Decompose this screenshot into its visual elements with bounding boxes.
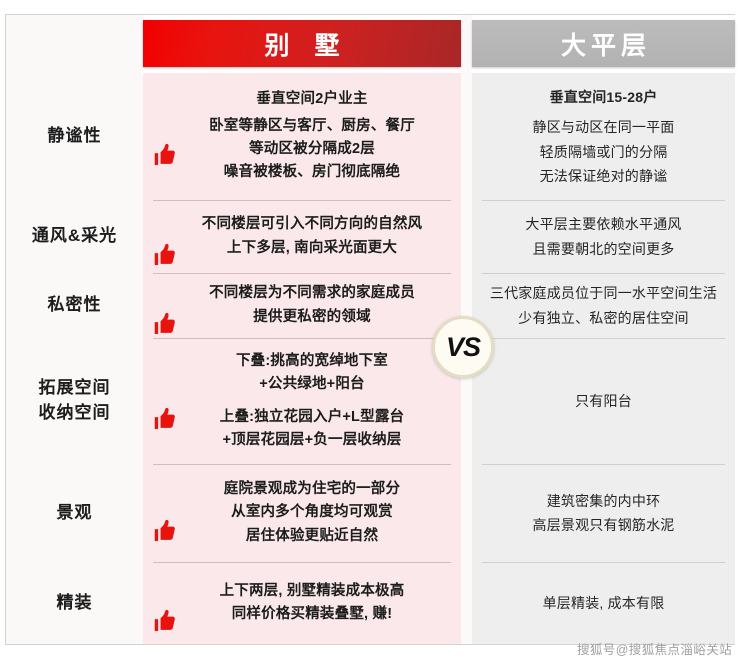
cell-body-text: 庭院景观成为住宅的一部分 从室内多个角度均可观赏 居住体验更贴近自然 bbox=[224, 478, 400, 548]
villa-cell-landscape: 庭院景观成为住宅的一部分 从室内多个角度均可观赏 居住体验更贴近自然 bbox=[143, 464, 461, 562]
villa-column: 别 墅 垂直空间2户业主 卧室等静区与客厅、厨房、餐厅 等动区被分隔成2层 噪音… bbox=[143, 15, 461, 644]
thumbs-up-icon bbox=[151, 589, 179, 617]
cell-body-text-secondary: 上叠:独立花园入户+L型露台 +顶层花园层+负一层收纳层 bbox=[220, 406, 404, 453]
flat-cell-privacy: 三代家庭成员位于同一水平空间生活 少有独立、私密的居住空间 bbox=[472, 273, 735, 338]
flat-column: 大平层 垂直空间15-28户 静区与动区在同一平面 轻质隔墙或门的分隔 无法保证… bbox=[472, 15, 735, 644]
table-row: 下叠:挑高的宽绰地下室 +公共绿地+阳台 上叠:独立花园入户+L型露台 +顶层花… bbox=[143, 338, 461, 464]
thumbs-up-icon bbox=[151, 292, 179, 320]
watermark: 搜狐号@搜狐焦点淄峪关站 bbox=[577, 639, 732, 658]
cell-lead-text: 垂直空间15-28户 bbox=[550, 85, 658, 110]
flat-cell-quiet: 垂直空间15-28户 静区与动区在同一平面 轻质隔墙或门的分隔 无法保证绝对的静… bbox=[472, 73, 735, 200]
villa-cell-finishing: 上下两层, 别墅精装成本极高 同样价格买精装叠墅, 赚! bbox=[143, 562, 461, 644]
flat-column-body: 垂直空间15-28户 静区与动区在同一平面 轻质隔墙或门的分隔 无法保证绝对的静… bbox=[472, 73, 735, 644]
table-row: 上下两层, 别墅精装成本极高 同样价格买精装叠墅, 赚! bbox=[143, 562, 461, 644]
criteria-label-column: 静谧性 通风&采光 私密性 拓展空间 收纳空间 景观 精装 bbox=[6, 15, 143, 644]
table-row: 单层精装, 成本有限 bbox=[472, 562, 735, 644]
vs-badge-label: VS bbox=[446, 332, 480, 363]
table-row: 建筑密集的内中环 高层景观只有钢筋水泥 bbox=[472, 464, 735, 562]
villa-cell-ventilation: 不同楼层可引入不同方向的自然风 上下多层, 南向采光面更大 bbox=[143, 200, 461, 273]
cell-body-text: 下叠:挑高的宽绰地下室 +公共绿地+阳台 bbox=[236, 350, 388, 397]
flat-column-header: 大平层 bbox=[472, 20, 735, 67]
villa-column-body: 垂直空间2户业主 卧室等静区与客厅、厨房、餐厅 等动区被分隔成2层 噪音被楼板、… bbox=[143, 73, 461, 644]
cell-body-text: 建筑密集的内中环 高层景观只有钢筋水泥 bbox=[533, 489, 675, 538]
cell-body-text: 单层精装, 成本有限 bbox=[543, 591, 665, 616]
table-row: 三代家庭成员位于同一水平空间生活 少有独立、私密的居住空间 bbox=[472, 273, 735, 338]
flat-cell-finishing: 单层精装, 成本有限 bbox=[472, 562, 735, 644]
criteria-label-landscape: 景观 bbox=[6, 464, 143, 562]
thumbs-up-icon bbox=[151, 499, 179, 527]
flat-cell-ventilation: 大平层主要依赖水平通风 且需要朝北的空间更多 bbox=[472, 200, 735, 273]
cell-body-text: 三代家庭成员位于同一水平空间生活 少有独立、私密的居住空间 bbox=[490, 281, 717, 330]
flat-cell-expansion-storage: 只有阳台 bbox=[472, 338, 735, 464]
label-row: 通风&采光 bbox=[6, 200, 143, 273]
criteria-label-privacy: 私密性 bbox=[6, 273, 143, 338]
cell-body-text: 大平层主要依赖水平通风 且需要朝北的空间更多 bbox=[525, 212, 681, 261]
table-row: 不同楼层为不同需求的家庭成员 提供更私密的领域 bbox=[143, 273, 461, 338]
cell-body-text: 不同楼层为不同需求的家庭成员 提供更私密的领域 bbox=[209, 282, 415, 329]
villa-column-header: 别 墅 bbox=[143, 20, 461, 67]
villa-cell-expansion-storage: 下叠:挑高的宽绰地下室 +公共绿地+阳台 上叠:独立花园入户+L型露台 +顶层花… bbox=[143, 338, 461, 464]
table-row: 只有阳台 bbox=[472, 338, 735, 464]
criteria-label-quiet: 静谧性 bbox=[6, 73, 143, 200]
criteria-label-finishing: 精装 bbox=[6, 562, 143, 644]
villa-cell-quiet: 垂直空间2户业主 卧室等静区与客厅、厨房、餐厅 等动区被分隔成2层 噪音被楼板、… bbox=[143, 73, 461, 200]
table-row: 垂直空间2户业主 卧室等静区与客厅、厨房、餐厅 等动区被分隔成2层 噪音被楼板、… bbox=[143, 73, 461, 200]
thumbs-up-icon bbox=[151, 123, 179, 151]
criteria-label-ventilation: 通风&采光 bbox=[6, 200, 143, 273]
table-row: 大平层主要依赖水平通风 且需要朝北的空间更多 bbox=[472, 200, 735, 273]
villa-cell-privacy: 不同楼层为不同需求的家庭成员 提供更私密的领域 bbox=[143, 273, 461, 338]
cell-body-text: 静区与动区在同一平面 轻质隔墙或门的分隔 无法保证绝对的静谧 bbox=[533, 115, 675, 189]
table-row: 垂直空间15-28户 静区与动区在同一平面 轻质隔墙或门的分隔 无法保证绝对的静… bbox=[472, 73, 735, 200]
cell-lead-text: 垂直空间2户业主 bbox=[256, 88, 367, 111]
comparison-table: 静谧性 通风&采光 私密性 拓展空间 收纳空间 景观 精装 别 墅 bbox=[5, 14, 735, 645]
label-row: 私密性 bbox=[6, 273, 143, 338]
flat-cell-landscape: 建筑密集的内中环 高层景观只有钢筋水泥 bbox=[472, 464, 735, 562]
label-row: 拓展空间 收纳空间 bbox=[6, 338, 143, 464]
label-row: 静谧性 bbox=[6, 73, 143, 200]
table-row: 不同楼层可引入不同方向的自然风 上下多层, 南向采光面更大 bbox=[143, 200, 461, 273]
cell-body-text: 上下两层, 别墅精装成本极高 同样价格买精装叠墅, 赚! bbox=[220, 580, 405, 627]
cell-body-text: 只有阳台 bbox=[575, 389, 632, 414]
cell-body-text: 不同楼层可引入不同方向的自然风 上下多层, 南向采光面更大 bbox=[202, 213, 423, 260]
label-row: 精装 bbox=[6, 562, 143, 644]
vs-badge: VS bbox=[432, 316, 494, 378]
thumbs-up-icon bbox=[151, 223, 179, 251]
criteria-label-expansion-storage: 拓展空间 收纳空间 bbox=[6, 338, 143, 464]
thumbs-up-icon bbox=[151, 387, 179, 415]
cell-body-text: 卧室等静区与客厅、厨房、餐厅 等动区被分隔成2层 噪音被楼板、房门彻底隔绝 bbox=[209, 115, 415, 185]
label-row: 景观 bbox=[6, 464, 143, 562]
table-row: 庭院景观成为住宅的一部分 从室内多个角度均可观赏 居住体验更贴近自然 bbox=[143, 464, 461, 562]
